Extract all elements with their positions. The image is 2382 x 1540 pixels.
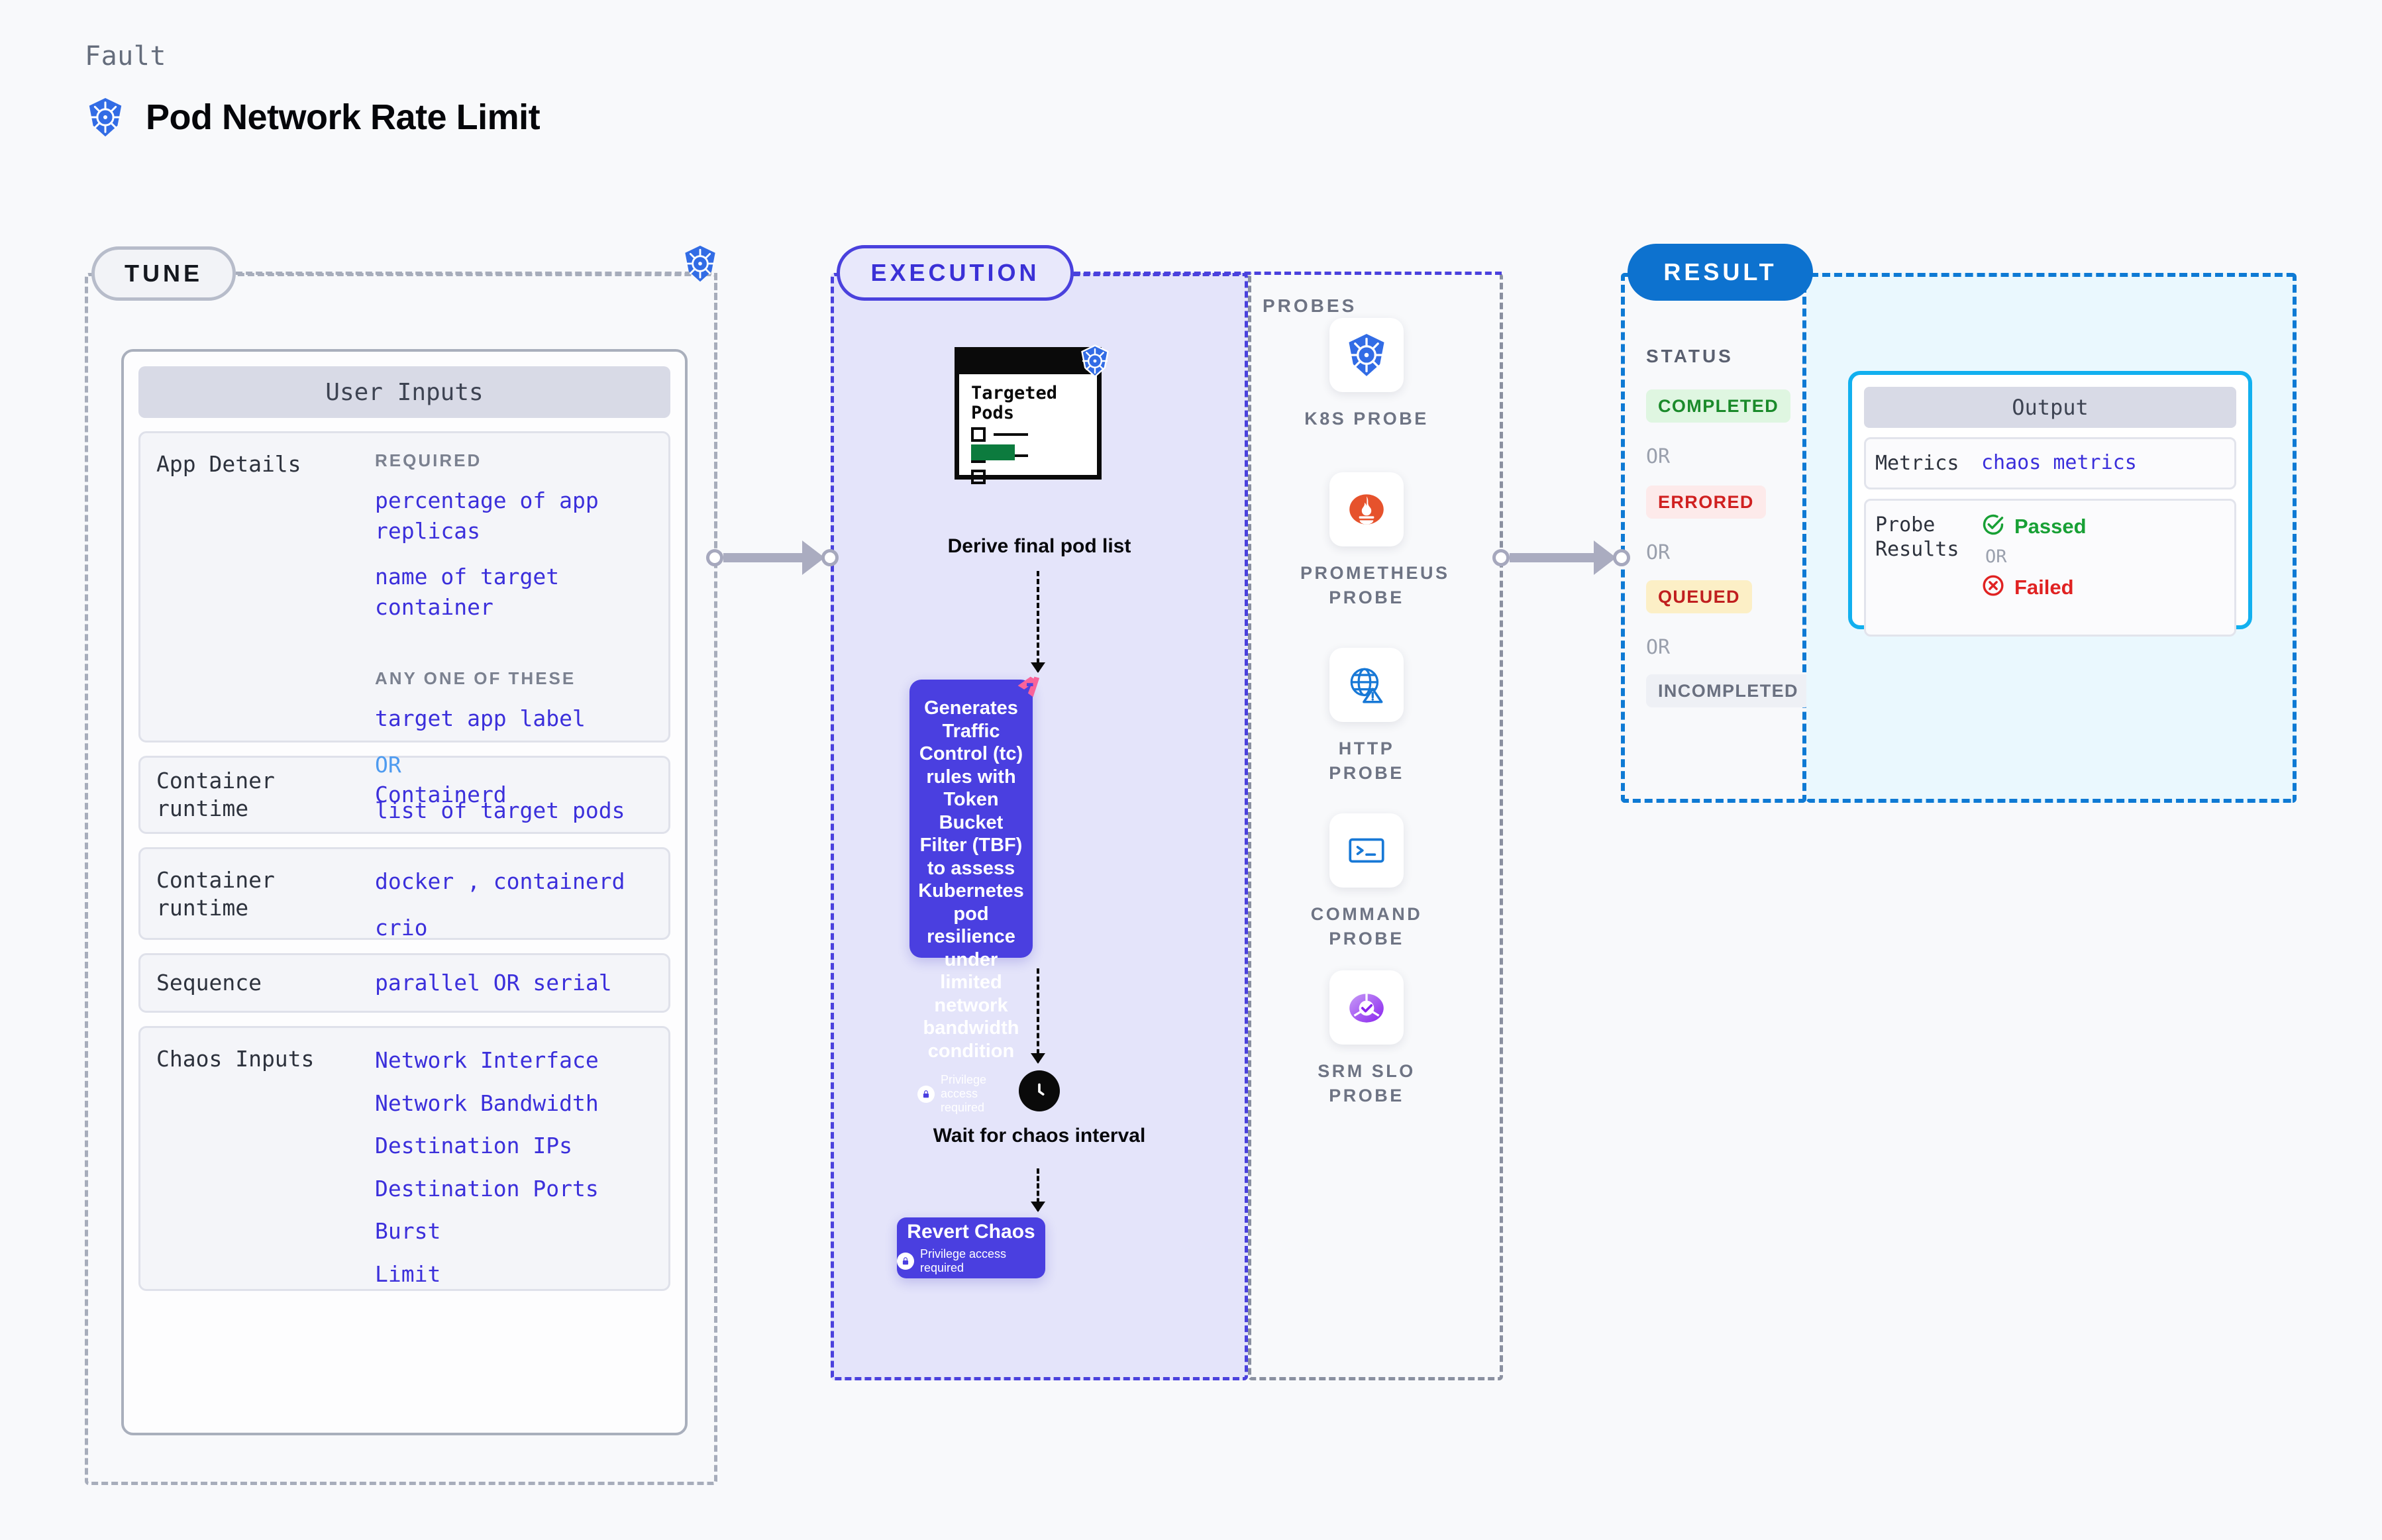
status-badge-text: COMPLETED xyxy=(1658,396,1779,417)
field-app-details: App Details REQUIRED percentage of app r… xyxy=(138,431,670,743)
field-subheading: REQUIRED xyxy=(375,450,651,471)
field-value[interactable]: docker , containerd xyxy=(375,866,651,897)
derive-pod-list-label: Derive final pod list xyxy=(831,535,1248,558)
privilege-notice: Privilege access required xyxy=(897,1247,1045,1275)
revert-chaos-card: Revert Chaos Privilege access required xyxy=(897,1217,1045,1278)
field-value[interactable]: Destination Ports xyxy=(375,1174,651,1204)
kubernetes-icon xyxy=(1329,318,1404,392)
check-circle-icon xyxy=(1981,513,2005,540)
connector-dot xyxy=(706,549,723,566)
list-item xyxy=(971,427,1028,442)
list-line xyxy=(994,476,1028,478)
page-title: Pod Network Rate Limit xyxy=(146,97,540,138)
probe-srm-slo[interactable]: SRM SLO PROBE xyxy=(1300,970,1433,1109)
field-value[interactable]: Destination IPs xyxy=(375,1131,651,1161)
tune-connector-dash xyxy=(236,272,711,275)
kubernetes-icon xyxy=(1078,344,1112,381)
revert-chaos-label: Revert Chaos xyxy=(907,1221,1035,1243)
field-value[interactable]: name of target container xyxy=(375,562,651,622)
region-pill-tune: TUNE xyxy=(91,246,236,301)
field-value[interactable]: Network Interface xyxy=(375,1045,651,1076)
status-or: OR xyxy=(1646,636,1670,659)
tune-region: User Inputs App Details REQUIRED percent… xyxy=(85,273,717,1485)
status-badge-text: ERRORED xyxy=(1658,492,1754,513)
flow-arrow xyxy=(1037,571,1039,672)
probe-label: K8S PROBE xyxy=(1300,407,1433,431)
terminal-icon xyxy=(1329,813,1404,888)
field-value[interactable]: Containerd xyxy=(375,780,651,810)
status-badge-text: QUEUED xyxy=(1658,587,1740,607)
region-pill-result: RESULT xyxy=(1628,244,1813,301)
checkbox-icon xyxy=(971,427,986,442)
status-badge-incompleted: INCOMPLETED xyxy=(1646,674,1810,707)
x-circle-icon xyxy=(1981,574,2005,601)
wait-label: Wait for chaos interval xyxy=(831,1123,1248,1148)
probe-command[interactable]: COMMAND PROBE xyxy=(1300,813,1433,952)
connector-dot xyxy=(1613,549,1630,566)
chaos-action-card: Generates Traffic Control (tc) rules wit… xyxy=(909,680,1033,958)
field-label: App Details xyxy=(156,450,375,723)
output-row-metrics: Metrics chaos metrics xyxy=(1864,437,2236,489)
field-subheading: ANY ONE OF THESE xyxy=(375,668,651,689)
output-value-metrics[interactable]: chaos metrics xyxy=(1981,451,2137,476)
connector-line xyxy=(723,553,802,562)
connector-dot xyxy=(1492,549,1510,566)
field-label: Container runtime xyxy=(156,866,375,921)
kubernetes-icon xyxy=(681,244,719,286)
region-pill-execution: EXECUTION xyxy=(837,245,1074,301)
probe-prometheus[interactable]: PROMETHEUS PROBE xyxy=(1300,472,1433,611)
globe-warning-icon xyxy=(1329,648,1404,722)
probe-result-text: Passed xyxy=(2014,515,2087,539)
connector-dot xyxy=(821,549,839,566)
chaos-action-text: Generates Traffic Control (tc) rules wit… xyxy=(917,697,1025,1062)
probe-result-failed: Failed xyxy=(1981,574,2087,601)
field-label: Container runtime xyxy=(156,767,375,823)
probe-http[interactable]: HTTP PROBE xyxy=(1300,648,1433,786)
field-value[interactable]: target app label xyxy=(375,703,651,734)
field-value-or: OR xyxy=(375,750,651,780)
status-badge-text: INCOMPLETED xyxy=(1658,681,1798,701)
output-label: Metrics xyxy=(1875,451,1981,476)
probe-k8s[interactable]: K8S PROBE xyxy=(1300,318,1433,431)
list-item xyxy=(971,470,1028,484)
field-sequence: Sequence parallel OR serial xyxy=(138,953,670,1013)
probe-result-text: Failed xyxy=(2014,576,2074,599)
field-chaos-inputs: Chaos Inputs Network Interface Network B… xyxy=(138,1026,670,1291)
tune-connector-vline xyxy=(714,273,717,558)
field-value[interactable]: Limit xyxy=(375,1259,651,1290)
fault-title-row: Pod Network Rate Limit xyxy=(85,97,540,138)
field-label: Chaos Inputs xyxy=(156,1045,375,1272)
field-value[interactable]: parallel OR serial xyxy=(375,968,651,998)
prometheus-icon xyxy=(1329,472,1404,546)
field-value[interactable]: Burst xyxy=(375,1216,651,1247)
status-label: STATUS xyxy=(1646,346,1734,367)
field-value[interactable]: crio xyxy=(375,913,651,943)
execution-connector-dash xyxy=(1074,272,1502,275)
list-line xyxy=(994,433,1028,436)
probe-result-passed: Passed xyxy=(1981,513,2087,540)
srm-slo-icon xyxy=(1329,970,1404,1045)
probe-label: PROMETHEUS PROBE xyxy=(1300,561,1433,611)
privilege-text: Privilege access required xyxy=(920,1247,1045,1275)
fault-kicker: Fault xyxy=(85,41,540,72)
targeted-pods-title: Targeted Pods xyxy=(971,384,1097,423)
flow-arrow xyxy=(1037,1168,1039,1211)
clock-icon xyxy=(1019,1070,1060,1111)
status-badge-errored: ERRORED xyxy=(1646,486,1766,519)
user-inputs-card: User Inputs App Details REQUIRED percent… xyxy=(121,349,688,1435)
field-container-runtime-options: Container runtime docker , containerd cr… xyxy=(138,847,670,940)
output-row-probe-results: Probe Results Passed OR xyxy=(1864,499,2236,637)
status-or: OR xyxy=(1646,445,1670,468)
probe-result-or: OR xyxy=(1985,546,2087,567)
connector-line xyxy=(1510,553,1594,562)
output-title: Output xyxy=(1864,387,2236,428)
doc-titlebar xyxy=(959,352,1097,374)
probe-label: SRM SLO PROBE xyxy=(1300,1059,1433,1109)
progress-bar xyxy=(971,444,1015,460)
output-label: Probe Results xyxy=(1875,513,1981,623)
user-inputs-title: User Inputs xyxy=(138,366,670,418)
probes-label: PROBES xyxy=(1263,295,1357,317)
flow-arrow xyxy=(1037,968,1039,1062)
field-label: Sequence xyxy=(156,969,375,997)
page-header: Fault Pod Network Rate Limit xyxy=(85,41,540,138)
connector-tune-to-execution xyxy=(706,543,839,572)
probe-label: COMMAND PROBE xyxy=(1300,902,1433,952)
field-value[interactable]: Network Bandwidth xyxy=(375,1088,651,1119)
litmus-chaos-icon xyxy=(1011,672,1042,705)
output-card: Output Metrics chaos metrics Probe Resul… xyxy=(1848,371,2252,629)
status-badge-completed: COMPLETED xyxy=(1646,389,1790,423)
status-badge-queued: QUEUED xyxy=(1646,580,1752,613)
checkbox-icon xyxy=(971,470,986,484)
connector-execution-to-result xyxy=(1492,543,1630,572)
field-value[interactable]: percentage of app replicas xyxy=(375,486,651,546)
probe-label: HTTP PROBE xyxy=(1300,737,1433,786)
status-or: OR xyxy=(1646,541,1670,564)
kubernetes-icon xyxy=(85,97,126,138)
wait-node: Wait for chaos interval xyxy=(831,1070,1248,1148)
lock-icon xyxy=(897,1253,914,1270)
